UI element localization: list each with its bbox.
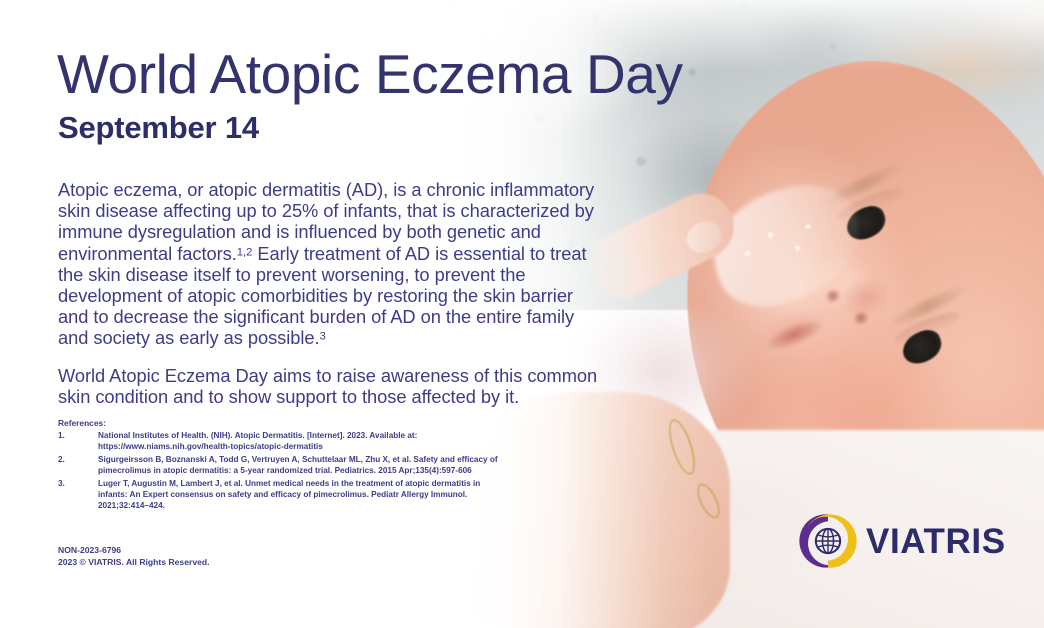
page-title: World Atopic Eczema Day — [57, 46, 683, 104]
citation-marker-1-2: 1,2 — [237, 246, 253, 258]
copyright-notice: 2023 © VIATRIS. All Rights Reserved. — [58, 557, 210, 569]
reference-text: Luger T, Augustin M, Lambert J, et al. U… — [98, 478, 498, 512]
page-subtitle: September 14 — [58, 110, 259, 146]
reference-item: 2. Sigurgeirsson B, Boznanski A, Todd G,… — [58, 454, 498, 476]
awareness-paragraph: World Atopic Eczema Day aims to raise aw… — [58, 365, 598, 407]
references-block: References: 1. National Institutes of He… — [58, 418, 498, 513]
reference-text: Sigurgeirsson B, Boznanski A, Todd G, Ve… — [98, 454, 498, 476]
viatris-globe-swoosh-icon — [799, 512, 857, 570]
reference-text: National Institutes of Health. (NIH). At… — [98, 430, 498, 452]
viatris-logo: VIATRIS — [799, 512, 1006, 570]
footer-block: NON-2023-6796 2023 © VIATRIS. All Rights… — [58, 545, 210, 568]
reference-item: 1. National Institutes of Health. (NIH).… — [58, 430, 498, 452]
reference-number: 1. — [58, 430, 98, 452]
reference-number: 2. — [58, 454, 98, 476]
citation-marker-3: 3 — [320, 330, 326, 342]
references-heading: References: — [58, 418, 498, 429]
reference-item: 3. Luger T, Augustin M, Lambert J, et al… — [58, 478, 498, 512]
poster-canvas: World Atopic Eczema Day September 14 Ato… — [0, 0, 1044, 628]
reference-number: 3. — [58, 478, 98, 512]
poster-content: World Atopic Eczema Day September 14 Ato… — [0, 0, 1044, 628]
viatris-wordmark: VIATRIS — [866, 524, 1006, 559]
intro-paragraph: Atopic eczema, or atopic dermatitis (AD)… — [58, 179, 598, 348]
document-code: NON-2023-6796 — [58, 545, 210, 557]
